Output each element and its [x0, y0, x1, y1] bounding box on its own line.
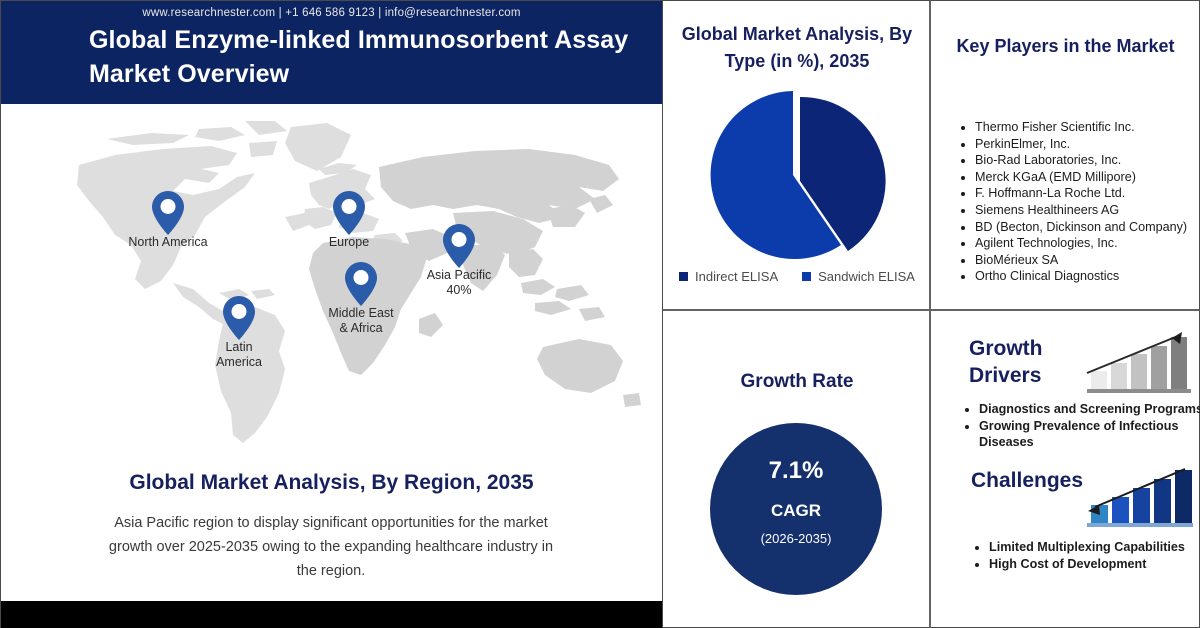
map-pin-label: Asia Pacific40% — [427, 268, 492, 297]
footer-contact-text: www.researchnester.com | +1 646 586 9123… — [1, 7, 662, 19]
cagr-percent: 7.1% — [710, 457, 882, 485]
map-pin-europe[interactable]: Europe — [332, 190, 366, 236]
list-item: BD (Becton, Dickinson and Company) — [975, 219, 1200, 236]
list-item: Bio-Rad Laboratories, Inc. — [975, 152, 1200, 169]
map-pin-north-america[interactable]: North America — [151, 190, 185, 236]
list-item: Merck KGaA (EMD Millipore) — [975, 169, 1200, 186]
map-pin-asia-pacific[interactable]: Asia Pacific40% — [442, 223, 476, 269]
cagr-label: CAGR — [710, 501, 882, 521]
legend-item-indirect-elisa: Indirect ELISA — [679, 269, 778, 284]
list-item: PerkinElmer, Inc. — [975, 136, 1200, 153]
growth-drivers-list: Diagnostics and Screening Programs Growi… — [957, 401, 1200, 451]
legend-label: Sandwich ELISA — [818, 269, 915, 284]
map-pin-middle-east-africa[interactable]: Middle East& Africa — [344, 261, 378, 307]
left-column: Global Enzyme-linked Immunosorbent Assay… — [0, 0, 663, 628]
descending-arrow-bar-chart-icon — [1081, 459, 1193, 531]
cagr-period: (2026-2035) — [710, 531, 882, 546]
growth-rate-title: Growth Rate — [673, 371, 921, 393]
pie-chart-legend: Indirect ELISA Sandwich ELISA — [673, 269, 921, 284]
legend-swatch-icon — [679, 272, 688, 281]
legend-item-sandwich-elisa: Sandwich ELISA — [802, 269, 915, 284]
list-item: Ortho Clinical Diagnostics — [975, 268, 1200, 285]
pie-chart-panel: Global Market Analysis, By Type (in %), … — [663, 0, 931, 311]
map-section-title: Global Market Analysis, By Region, 2035 — [1, 471, 662, 495]
list-item: High Cost of Development — [989, 556, 1200, 573]
drivers-challenges-panel: Growth Drivers Diagnostics and Screening… — [931, 311, 1200, 628]
map-section-description: Asia Pacific region to display significa… — [101, 511, 561, 583]
infographic-page: Global Enzyme-linked Immunosorbent Assay… — [0, 0, 1200, 628]
list-item: Growing Prevalence of Infectious Disease… — [979, 418, 1200, 451]
map-pin-label: North America — [128, 235, 207, 250]
world-map-region: North America Europe Asia Pacific40% Lat… — [1, 105, 662, 465]
list-item: Limited Multiplexing Capabilities — [989, 539, 1200, 556]
legend-label: Indirect ELISA — [695, 269, 778, 284]
map-pin-latin-america[interactable]: LatinAmerica — [222, 295, 256, 341]
key-players-list: Thermo Fisher Scientific Inc. PerkinElme… — [953, 119, 1200, 285]
growth-rate-panel: Growth Rate 7.1% CAGR (2026-2035) — [663, 311, 931, 628]
list-item: Agilent Technologies, Inc. — [975, 235, 1200, 252]
world-map-svg — [23, 113, 643, 458]
challenges-list: Limited Multiplexing Capabilities High C… — [967, 539, 1200, 572]
list-item: F. Hoffmann-La Roche Ltd. — [975, 185, 1200, 202]
pie-chart-title: Global Market Analysis, By Type (in %), … — [673, 21, 921, 75]
type-share-pie-chart — [701, 89, 891, 264]
list-item: Thermo Fisher Scientific Inc. — [975, 119, 1200, 136]
page-title: Global Enzyme-linked Immunosorbent Assay… — [89, 23, 629, 91]
map-pin-label: LatinAmerica — [216, 340, 262, 369]
list-item: Siemens Healthineers AG — [975, 202, 1200, 219]
list-item: Diagnostics and Screening Programs — [979, 401, 1200, 418]
cagr-circle: 7.1% CAGR (2026-2035) — [710, 423, 882, 595]
list-item: BioMérieux SA — [975, 252, 1200, 269]
footer-bar — [1, 601, 662, 628]
map-pin-label: Middle East& Africa — [328, 306, 393, 335]
growth-drivers-title: Growth Drivers — [969, 335, 1089, 389]
ascending-bar-chart-icon — [1083, 325, 1193, 397]
key-players-panel: Key Players in the Market Thermo Fisher … — [931, 0, 1200, 311]
legend-swatch-icon — [802, 272, 811, 281]
map-pin-label: Europe — [329, 235, 369, 250]
key-players-title: Key Players in the Market — [945, 33, 1186, 60]
